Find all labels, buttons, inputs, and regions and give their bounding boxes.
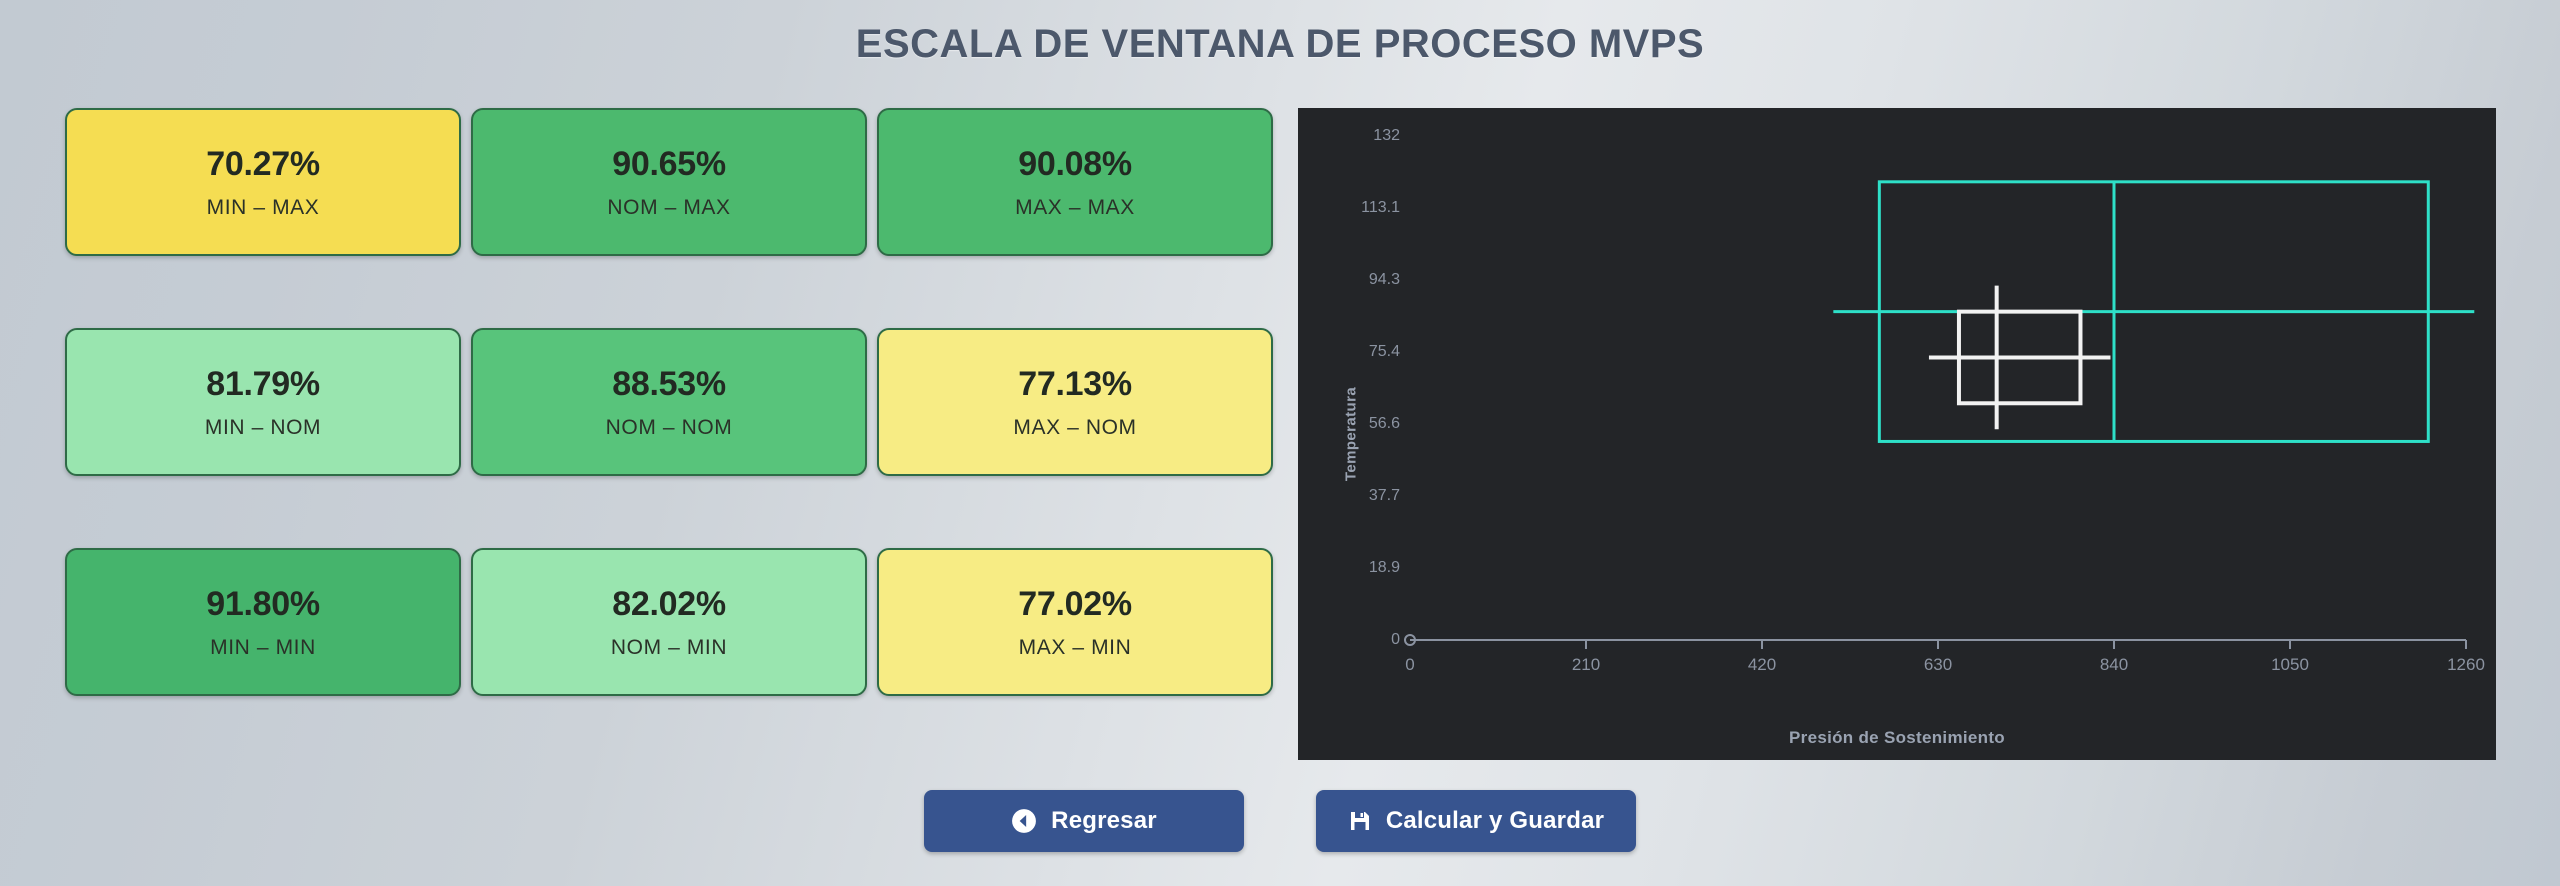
- metric-value: 77.13%: [1018, 367, 1132, 401]
- metrics-panel: 70.27% MIN – MAX 90.65% NOM – MAX 90.08%…: [0, 108, 1298, 696]
- back-circle-arrow-icon: [1011, 808, 1037, 834]
- metric-value: 81.79%: [206, 367, 320, 401]
- process-window-chart[interactable]: Temperatura Presión de Sostenimiento 018…: [1298, 108, 2496, 760]
- chart-inner: Temperatura Presión de Sostenimiento 018…: [1298, 108, 2496, 760]
- metric-card[interactable]: 82.02% NOM – MIN: [471, 548, 867, 696]
- metric-label: MIN – MIN: [210, 637, 316, 658]
- action-bar: Regresar Calcular y Guardar: [0, 790, 2560, 852]
- back-button-label: Regresar: [1051, 807, 1157, 835]
- metric-value: 90.08%: [1018, 147, 1132, 181]
- metric-value: 88.53%: [612, 367, 726, 401]
- save-button-label: Calcular y Guardar: [1386, 807, 1604, 835]
- metric-value: 70.27%: [206, 147, 320, 181]
- metric-value: 90.65%: [612, 147, 726, 181]
- metrics-grid: 70.27% MIN – MAX 90.65% NOM – MAX 90.08%…: [65, 108, 1268, 696]
- metric-card[interactable]: 88.53% NOM – NOM: [471, 328, 867, 476]
- metric-label: NOM – NOM: [606, 417, 733, 438]
- save-button[interactable]: Calcular y Guardar: [1316, 790, 1636, 852]
- back-button[interactable]: Regresar: [924, 790, 1244, 852]
- metric-card[interactable]: 81.79% MIN – NOM: [65, 328, 461, 476]
- metric-card[interactable]: 90.65% NOM – MAX: [471, 108, 867, 256]
- metric-value: 77.02%: [1018, 587, 1132, 621]
- main-content: 70.27% MIN – MAX 90.65% NOM – MAX 90.08%…: [0, 108, 2560, 768]
- metric-label: MAX – MAX: [1015, 197, 1135, 218]
- metric-label: MIN – NOM: [205, 417, 321, 438]
- metric-label: NOM – MAX: [607, 197, 730, 218]
- metric-card[interactable]: 70.27% MIN – MAX: [65, 108, 461, 256]
- metric-label: MIN – MAX: [207, 197, 320, 218]
- metric-card[interactable]: 90.08% MAX – MAX: [877, 108, 1273, 256]
- metric-card[interactable]: 77.13% MAX – NOM: [877, 328, 1273, 476]
- metric-card[interactable]: 91.80% MIN – MIN: [65, 548, 461, 696]
- metric-card[interactable]: 77.02% MAX – MIN: [877, 548, 1273, 696]
- metric-value: 82.02%: [612, 587, 726, 621]
- metric-value: 91.80%: [206, 587, 320, 621]
- page-title: ESCALA DE VENTANA DE PROCESO MVPS: [0, 0, 2560, 67]
- metric-label: MAX – MIN: [1019, 637, 1132, 658]
- metric-label: MAX – NOM: [1013, 417, 1136, 438]
- floppy-disk-save-icon: [1348, 809, 1372, 833]
- metric-label: NOM – MIN: [611, 637, 727, 658]
- plot-area: [1298, 108, 2496, 760]
